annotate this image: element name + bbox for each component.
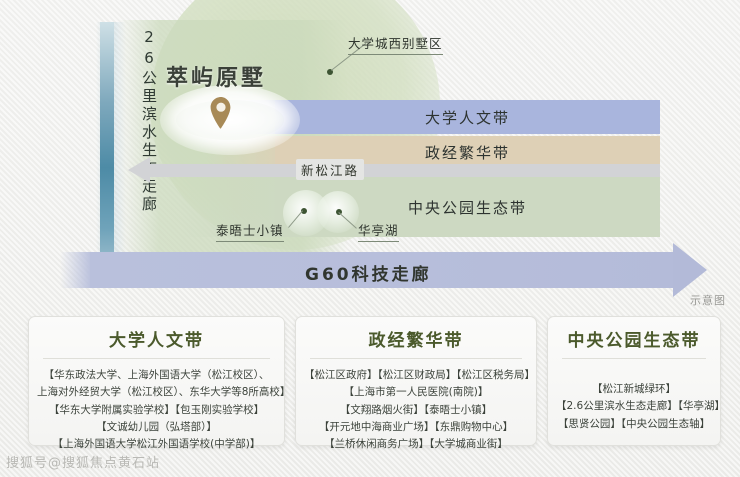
card-economy: 政经繁华带 【松江区政府】【松江区财政局】【松江区税务局】 【上海市第一人民医院… [295,316,537,446]
card-park-divider [562,358,706,359]
card-line: 【思贤公园】【中央公园生态轴】 [556,416,712,433]
project-name: 萃屿原墅 [166,60,266,92]
card-line: 【开元地中海商业广场】【东鼎购物中心】 [304,419,528,436]
card-line: 【华东政法大学、上海外国语大学（松江校区）、 [37,367,276,384]
road-label: 新松江路 [296,159,364,180]
callout-label-lake: 华亭湖 [358,220,399,242]
card-line: 【2.6公里滨水生态走廊】【华亭湖】 [556,398,712,415]
road-arrow-left-icon [128,157,150,183]
card-line: 【上海外国语大学松江外国语学校(中学部)】 [37,436,276,453]
callout-label-town: 泰晤士小镇 [216,220,284,242]
band-economy-label: 政经繁华带 [425,142,510,163]
road-bar [148,164,660,177]
band-university-label: 大学人文带 [425,107,510,128]
card-university-divider [43,358,270,359]
card-line: 上海对外经贸大学（松江校区）、东华大学等8所高校】 [37,384,276,401]
card-line: 【兰桥休闲商务广场】【大学城商业街】 [304,436,528,453]
corridor-arrow-label: G60科技走廊 [305,260,432,285]
card-line: 【文翔路烟火街】【泰晤士小镇】 [304,402,528,419]
figure-note: 示意图 [690,292,726,308]
map-pin-icon [208,96,234,130]
location-diagram: 26公里滨水生态走廊 大学人文带 政经繁华带 中央公园生态带 新松江路 萃屿原墅… [0,0,740,310]
vertical-corridor-label: 26公里滨水生态走廊 [130,28,156,214]
page-root: 26公里滨水生态走廊 大学人文带 政经繁华带 中央公园生态带 新松江路 萃屿原墅… [0,0,740,477]
card-economy-title: 政经繁华带 [296,317,536,358]
callout-label-villa: 大学城西别墅区 [348,33,443,55]
band-university: 大学人文带 [275,100,660,134]
band-park-label: 中央公园生态带 [408,197,527,218]
waterfront-ribbon [100,22,114,287]
card-line: 【松江区政府】【松江区财政局】【松江区税务局】 [304,367,528,384]
card-park-title: 中央公园生态带 [548,317,720,358]
card-economy-divider [310,358,522,359]
watermark: 搜狐号@搜狐焦点黄石站 [6,452,160,471]
card-line: 【华东大学附属实验学校】【包玉刚实验学校】 [37,402,276,419]
corridor-arrow-right-icon [673,243,707,297]
corridor-arrow-body: G60科技走廊 [90,252,675,288]
card-university-title: 大学人文带 [29,317,284,358]
card-line: 【上海市第一人民医院(南院)】 [304,384,528,401]
card-park-lines: 【松江新城绿环】 【2.6公里滨水生态走廊】【华亭湖】 【思贤公园】【中央公园生… [548,367,720,433]
card-park: 中央公园生态带 【松江新城绿环】 【2.6公里滨水生态走廊】【华亭湖】 【思贤公… [547,316,721,446]
legend-cards: 大学人文带 【华东政法大学、上海外国语大学（松江校区）、 上海对外经贸大学（松江… [0,316,740,456]
card-university-lines: 【华东政法大学、上海外国语大学（松江校区）、 上海对外经贸大学（松江校区）、东华… [29,367,284,454]
card-line: 【松江新城绿环】 [556,381,712,398]
card-university: 大学人文带 【华东政法大学、上海外国语大学（松江校区）、 上海对外经贸大学（松江… [28,316,285,446]
card-line: 【文诚幼儿园（弘塔部）】 [37,419,276,436]
corridor-arrow-tail [60,252,92,288]
card-economy-lines: 【松江区政府】【松江区财政局】【松江区税务局】 【上海市第一人民医院(南院)】 … [296,367,536,454]
